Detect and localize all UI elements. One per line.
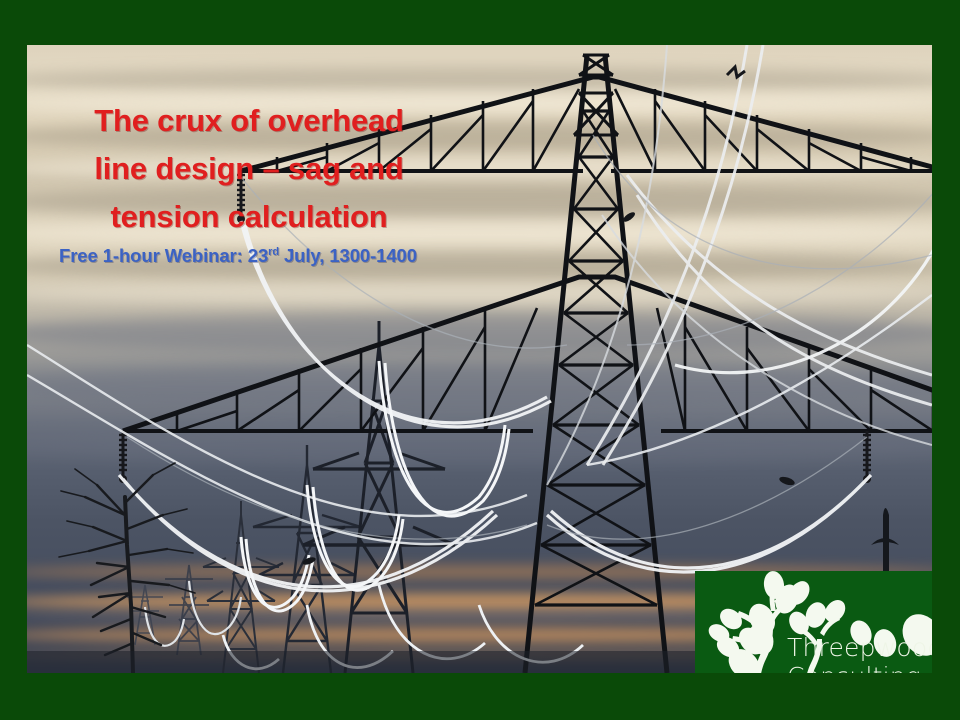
background-photo: The crux of overhead line design – sag a… bbox=[27, 45, 932, 673]
logo-line-2: Consulting bbox=[787, 662, 932, 673]
logo-line-1: Threepwood bbox=[787, 633, 932, 662]
logo-wordmark: Threepwood Consulting bbox=[787, 633, 932, 673]
slide-canvas: The crux of overhead line design – sag a… bbox=[0, 0, 960, 720]
company-logo[interactable]: Threepwood Consulting bbox=[695, 571, 932, 673]
